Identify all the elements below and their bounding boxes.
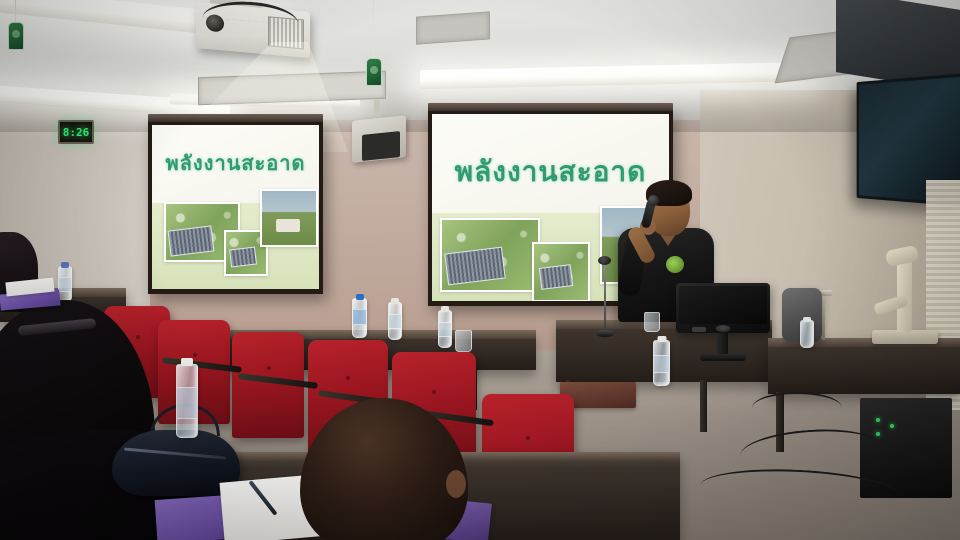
slide-title-left: พลังงานสะอาด: [152, 147, 319, 179]
gooseneck-lamp-stem: [822, 294, 825, 340]
microphone-stand-pole: [604, 262, 606, 334]
shirt-logo: [666, 256, 684, 273]
microphone-head: [648, 195, 659, 206]
slide-title-right: พลังงานสะอาด: [432, 150, 669, 194]
hanging-green-tag: [8, 22, 24, 50]
document-camera-base: [872, 330, 938, 344]
water-bottle: [438, 310, 452, 348]
water-bottle: [388, 302, 402, 340]
screen-roller: [148, 114, 323, 122]
monitor-power-button[interactable]: [692, 327, 706, 332]
water-bottle: [58, 266, 72, 302]
photo-scene: 8:26 พลังงานสะอาด พลังงานสะ: [0, 0, 960, 540]
status-led: [876, 418, 880, 422]
slide-photo-solar-panel-right: [440, 218, 540, 292]
screen-surface-left: พลังงานสะอาด: [152, 125, 319, 289]
monitor-screen: [679, 286, 767, 324]
ceiling-speaker-face: [362, 131, 400, 161]
table-leg: [700, 380, 707, 432]
monitor-base: [700, 354, 746, 361]
water-bottle: [800, 320, 814, 348]
microphone-capsule: [598, 256, 611, 265]
microphone-stand-base: [596, 330, 614, 337]
drinking-glass: [455, 330, 472, 352]
water-bottle: [352, 298, 367, 338]
hanging-tag-string: [15, 0, 16, 22]
status-led: [890, 424, 894, 428]
hanging-green-tag: [366, 58, 382, 86]
hanging-tag-string: [373, 0, 374, 58]
ceiling-air-vent: [416, 11, 490, 44]
slide-photo-outdoor-left: [260, 189, 318, 247]
digital-wall-clock: 8:26: [58, 120, 94, 144]
audience-ear: [446, 470, 466, 498]
screen-roller: [428, 103, 673, 111]
water-bottle: [653, 340, 670, 386]
water-bottle: [176, 364, 198, 438]
status-led: [876, 432, 880, 436]
dell-logo-badge: [716, 325, 731, 332]
equipment-table: [768, 338, 960, 394]
floor-cable: [752, 392, 842, 424]
drinking-glass: [644, 312, 660, 332]
slide-photo-hexagon-right: [532, 242, 590, 301]
projection-screen-left: พลังงานสะอาด: [148, 121, 323, 294]
clock-digits: 8:26: [63, 126, 90, 139]
dell-monitor: [676, 283, 770, 333]
